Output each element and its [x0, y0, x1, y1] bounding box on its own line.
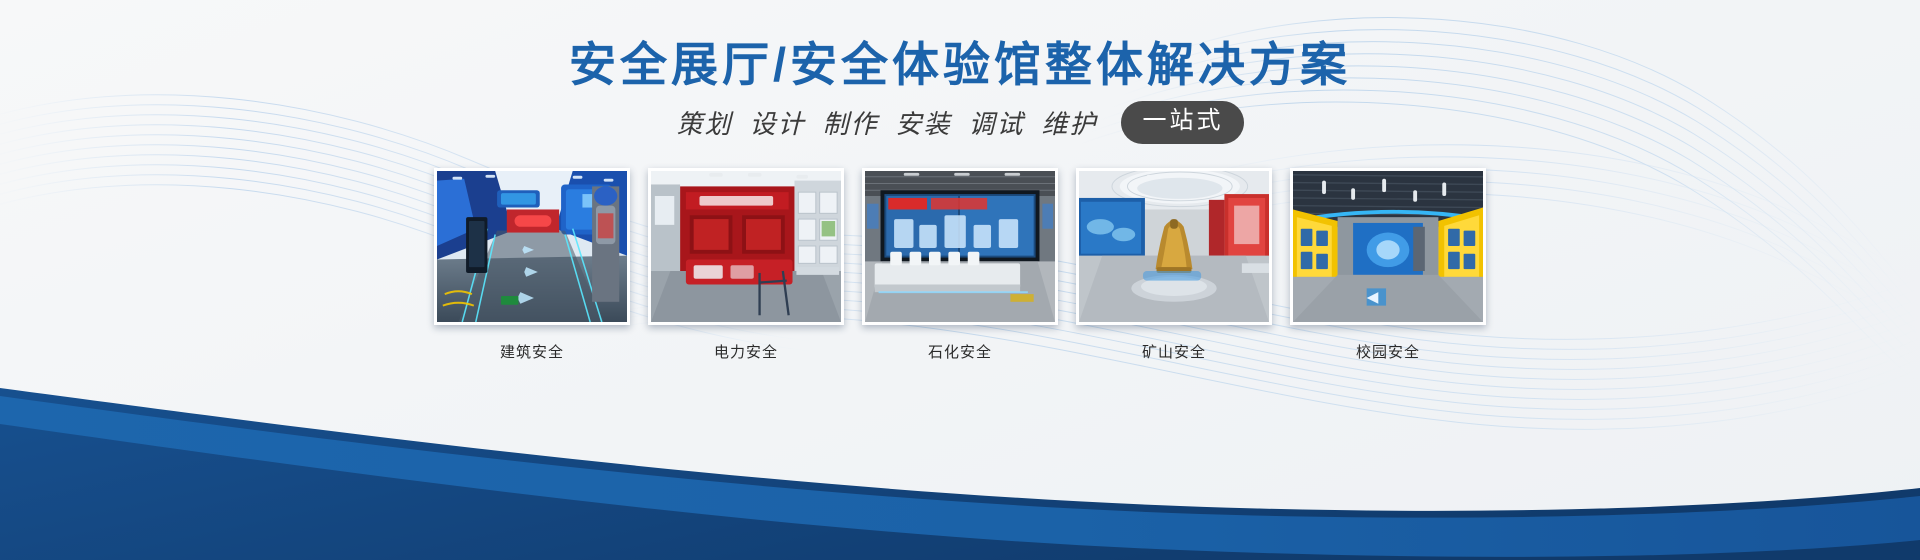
- thumbnail-power-safety[interactable]: [648, 168, 844, 325]
- caption-construction-safety: 建筑安全: [434, 341, 630, 362]
- thumbnail-petrochemical-safety[interactable]: [862, 168, 1058, 325]
- scene-bell-rotunda-image: [1079, 171, 1269, 322]
- page-title: 安全展厅/安全体验馆整体解决方案: [0, 26, 1920, 95]
- service-steps-row: 策划 设计 制作 安装 调试 维护 一站式: [0, 101, 1920, 144]
- service-step-installation: 安装: [896, 104, 952, 141]
- gallery-item[interactable]: 石化安全: [862, 168, 1058, 362]
- scene-blue-corridor-image: [437, 171, 627, 322]
- caption-petrochemical-safety: 石化安全: [862, 341, 1058, 362]
- safety-exhibition-banner: 安全展厅/安全体验馆整体解决方案 策划 设计 制作 安装 调试 维护 一站式: [0, 0, 1920, 560]
- caption-power-safety: 电力安全: [648, 341, 844, 362]
- scene-led-screen-hall-image: [865, 171, 1055, 322]
- scene-gallery: 建筑安全: [0, 168, 1920, 362]
- gallery-item[interactable]: 建筑安全: [434, 168, 630, 362]
- gallery-item[interactable]: 电力安全: [648, 168, 844, 362]
- service-step-planning: 策划: [676, 104, 732, 141]
- thumbnail-construction-safety[interactable]: [434, 168, 630, 325]
- caption-mining-safety: 矿山安全: [1076, 341, 1272, 362]
- service-step-production: 制作: [822, 104, 878, 141]
- one-stop-badge: 一站式: [1121, 101, 1244, 144]
- caption-campus-safety: 校园安全: [1290, 341, 1486, 362]
- gallery-item[interactable]: 校园安全: [1290, 168, 1486, 362]
- service-step-commissioning: 调试: [969, 104, 1025, 141]
- wave-layer-dark: [0, 388, 1920, 560]
- scene-yellow-blue-corridor-image: [1293, 171, 1483, 322]
- thumbnail-campus-safety[interactable]: [1290, 168, 1486, 325]
- service-step-maintenance: 维护: [1042, 104, 1098, 141]
- service-step-design: 设计: [749, 104, 805, 141]
- wave-layer-light: [0, 396, 1920, 557]
- gallery-item[interactable]: 矿山安全: [1076, 168, 1272, 362]
- thumbnail-mining-safety[interactable]: [1076, 168, 1272, 325]
- scene-red-fire-hall-image: [651, 171, 841, 322]
